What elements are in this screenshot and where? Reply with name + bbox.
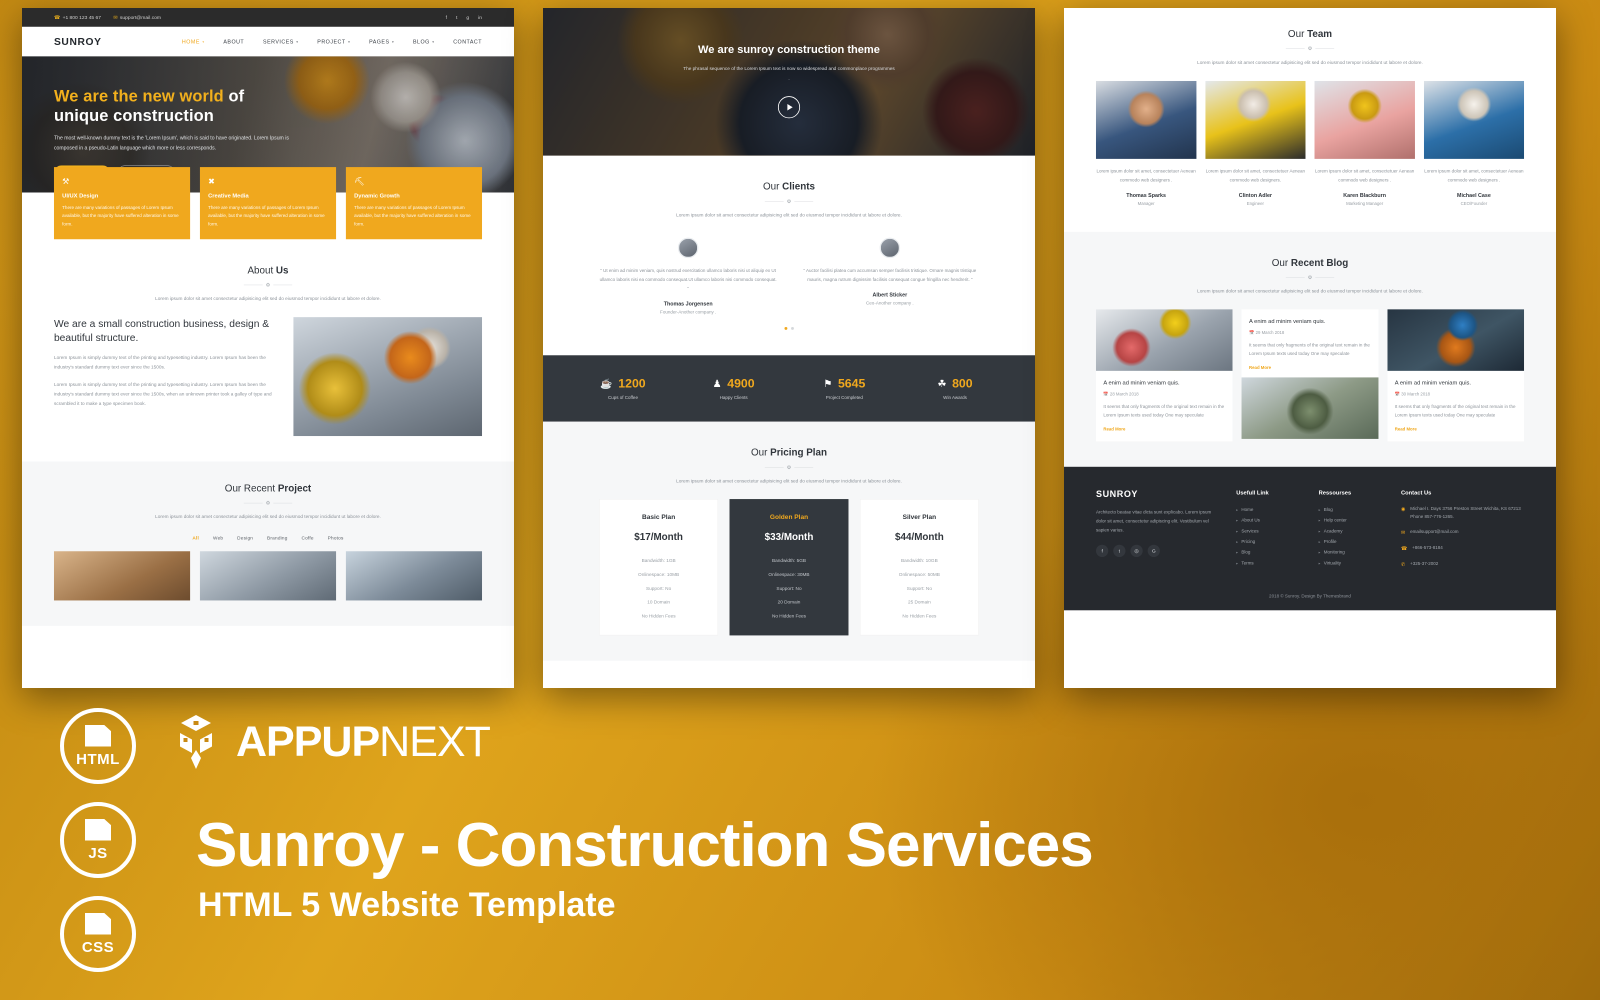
read-more-link[interactable]: Read More xyxy=(1103,426,1225,431)
feature-text: There are many variations of passages of… xyxy=(208,204,328,229)
topbar-phone: ☎+1 800 123 45 67 xyxy=(54,15,101,21)
blog-image xyxy=(1096,309,1233,371)
nav-item-home[interactable]: HOME▾ xyxy=(182,39,205,45)
nav-item-services[interactable]: SERVICES▾ xyxy=(263,39,298,45)
avatar xyxy=(678,238,699,258)
blog-image xyxy=(1387,309,1524,371)
blog-grid: A enim ad minim veniam quis. 📅 28 March … xyxy=(1096,309,1524,441)
about-title: We are a small construction business, de… xyxy=(54,317,272,345)
feature-title: UI/UX Design xyxy=(62,192,182,199)
gear-icon: ⚙ xyxy=(1308,46,1312,52)
carousel-dots[interactable] xyxy=(575,327,1003,330)
video-banner: We are sunroy construction theme The phr… xyxy=(543,8,1035,156)
team-role: Marketing Manager xyxy=(1315,202,1415,207)
feature-title: Creative Media xyxy=(208,192,328,199)
footer-link-help-center[interactable]: ▸Help center xyxy=(1319,515,1384,526)
team-bio: Lorem ipsum dolor sit amet, consectetuer… xyxy=(1205,167,1305,185)
topbar-email: ✉support@mail.com xyxy=(113,15,161,21)
nav-item-contact[interactable]: CONTACT xyxy=(453,39,482,45)
gear-icon: ⚙ xyxy=(787,465,791,471)
plan-feature: Onlinespace: 10MB xyxy=(607,568,710,582)
instagram-icon[interactable]: ◎ xyxy=(1130,545,1142,557)
tech-badges: HTML JS CSS xyxy=(60,708,136,972)
badge-css: CSS xyxy=(60,896,136,972)
blog-post[interactable]: A enim ad minim veniam quis. 📅 29 March … xyxy=(1242,309,1379,439)
bulb-icon: ⚑ xyxy=(823,378,832,390)
blog-image xyxy=(1242,377,1379,439)
plan-feature: No Hidden Fees xyxy=(737,609,840,623)
footer-link-home[interactable]: ▸Home xyxy=(1236,504,1301,515)
footer-link-blog[interactable]: ▸Blog xyxy=(1236,547,1301,558)
carousel-dot-1 xyxy=(784,327,787,330)
main-navbar: SUNROY HOME▾ ABOUT SERVICES▾ PROJECT▾ PA… xyxy=(22,27,514,57)
pricing-heading: Our Pricing Plan xyxy=(575,447,1003,458)
stat-happy-clients: ♟4900 Happy Clients xyxy=(678,377,789,401)
growth-icon: ⛏ xyxy=(354,176,474,186)
project-thumb[interactable] xyxy=(200,551,336,600)
calendar-icon: 📅 xyxy=(1249,330,1254,335)
chevron-down-icon: ▾ xyxy=(348,40,350,44)
team-name: Karen Blackburn xyxy=(1315,192,1415,198)
file-icon xyxy=(85,913,111,935)
pricing-plans: Basic Plan $17/Month Bandwidth: 1GB Onli… xyxy=(575,499,1003,635)
gear-icon: ⚙ xyxy=(787,198,791,204)
stat-win-awards: ☘800 Win Awards xyxy=(900,377,1011,401)
blog-subtext: Lorem ipsum dolor sit amet consectetur a… xyxy=(1096,287,1524,296)
footer-link-terms[interactable]: ▸Terms xyxy=(1236,558,1301,569)
clients-subtext: Lorem ipsum dolor sit amet consectetur a… xyxy=(575,211,1003,220)
pricing-subtext: Lorem ipsum dolor sit amet consectetur a… xyxy=(575,477,1003,486)
plan-title: Golden Plan xyxy=(737,513,840,520)
footer-link-blog2[interactable]: ▸Blog xyxy=(1319,504,1384,515)
filter-branding[interactable]: Branding xyxy=(267,536,288,541)
blog-post[interactable]: A enim ad minim veniam quis. 📅 30 March … xyxy=(1387,309,1524,441)
blog-post[interactable]: A enim ad minim veniam quis. 📅 28 March … xyxy=(1096,309,1233,441)
section-divider: ⚙ xyxy=(54,500,482,506)
appupnext-logo: APPUPNEXT xyxy=(170,714,490,770)
section-divider: ⚙ xyxy=(54,282,482,288)
blog-excerpt: It seems that only fragments of the orig… xyxy=(1395,402,1517,420)
about-heading: About Us xyxy=(54,265,482,276)
filter-photos[interactable]: Photos xyxy=(328,536,344,541)
footer-copyright: 2018 © Sunroy. Design By Themesbrand xyxy=(1096,594,1524,599)
project-thumb[interactable] xyxy=(54,551,190,600)
section-divider: ⚙ xyxy=(575,465,1003,471)
footer-contact: Contact Us ◉Michael I. Days 3756 Preston… xyxy=(1401,489,1524,576)
feature-text: There are many variations of passages of… xyxy=(62,204,182,229)
plan-title: Silver Plan xyxy=(868,513,971,520)
plan-price: $33/Month xyxy=(737,532,840,543)
footer-col-title: Usefull Link xyxy=(1236,489,1301,496)
promo-title: Sunroy - Construction Services xyxy=(196,810,1093,881)
stat-project-completed: ⚑5645 Project Completed xyxy=(789,377,900,401)
blog-heading: Our Recent Blog xyxy=(1096,257,1524,268)
stat-cups-of-coffee: ☕1200 Cups of Coffee xyxy=(568,377,679,401)
plan-price: $17/Month xyxy=(607,532,710,543)
location-icon: ◉ xyxy=(1401,504,1405,521)
chevron-down-icon: ▾ xyxy=(392,40,394,44)
hero-headline: We are the new world of unique construct… xyxy=(54,87,309,126)
team-member[interactable]: Lorem ipsum dolor sit amet, consectetuer… xyxy=(1205,81,1305,206)
team-role: Manager xyxy=(1096,202,1196,207)
contact-fax[interactable]: ✆+325-37-2002 xyxy=(1401,560,1524,569)
plan-basic[interactable]: Basic Plan $17/Month Bandwidth: 1GB Onli… xyxy=(599,499,718,635)
mail-icon: ✉ xyxy=(1401,528,1405,537)
clients-heading: Our Clients xyxy=(575,181,1003,192)
top-contact-bar: ☎+1 800 123 45 67 ✉support@mail.com f t … xyxy=(22,8,514,27)
team-photo xyxy=(1315,81,1415,159)
tools-icon: ✖ xyxy=(208,176,328,186)
plan-silver[interactable]: Silver Plan $44/Month Bandwidth: 10GB On… xyxy=(860,499,979,635)
phone-icon: ☎ xyxy=(54,15,60,21)
team-name: Thomas Sparks xyxy=(1096,192,1196,198)
plan-feature: Support: No xyxy=(737,582,840,596)
footer-link-virtuality[interactable]: ▸Virtuality xyxy=(1319,558,1384,569)
team-subtext: Lorem ipsum dolor sit amet consectetur a… xyxy=(1096,58,1524,67)
blog-title: A enim ad minim veniam quis. xyxy=(1103,379,1225,386)
contact-address: ◉Michael I. Days 3756 Preston Street Wic… xyxy=(1401,504,1524,521)
feature-text: There are many variations of passages of… xyxy=(354,204,474,229)
team-members: Lorem ipsum dolor sit amet, consectetuer… xyxy=(1096,81,1524,206)
team-bio: Lorem ipsum dolor sit amet, consectetuer… xyxy=(1424,167,1524,185)
team-name: Michael Case xyxy=(1424,192,1524,198)
promo-subtitle: HTML 5 Website Template xyxy=(198,886,616,925)
testimonial-quote: “ Ut enim ad minim veniam, quis nostrud … xyxy=(600,266,777,293)
calendar-icon: 📅 xyxy=(1103,392,1108,397)
screenshot-row: ☎+1 800 123 45 67 ✉support@mail.com f t … xyxy=(0,0,1600,700)
screenshot-homepage-top: ☎+1 800 123 45 67 ✉support@mail.com f t … xyxy=(22,8,514,688)
stat-label: Win Awards xyxy=(900,396,1011,401)
blog-excerpt: It seems that only fragments of the orig… xyxy=(1249,341,1371,359)
google-icon[interactable]: g xyxy=(466,15,469,21)
contact-email[interactable]: ✉emailsupport@mail.com xyxy=(1401,528,1524,537)
blog-date: 📅 30 March 2018 xyxy=(1395,391,1517,396)
feature-card-uiux[interactable]: ⚒ UI/UX Design There are many variations… xyxy=(54,167,190,239)
plan-feature: No Hidden Fees xyxy=(868,609,971,623)
testimonial-quote: “ Auctor facilisi platea cum accumsan se… xyxy=(801,266,978,284)
nav-item-about[interactable]: ABOUT xyxy=(223,39,244,45)
twitter-icon[interactable]: t xyxy=(1113,545,1125,557)
project-filters: All Web Design Branding Coffe Photos xyxy=(54,536,482,541)
blog-date: 📅 28 March 2018 xyxy=(1103,391,1225,396)
google-icon[interactable]: G xyxy=(1148,545,1160,557)
footer-useful-links: Usefull Link ▸Home ▸About Us ▸Services ▸… xyxy=(1236,489,1301,576)
about-paragraph-2: Lorem Ipsum is simply dummy text of the … xyxy=(54,380,272,408)
site-footer: SUNROY Architecto beatae vitae dicta sun… xyxy=(1064,467,1556,611)
mail-icon: ✉ xyxy=(113,15,117,21)
testimonial-name: Albert Sticker xyxy=(801,292,978,298)
footer-socials: f t ◎ G xyxy=(1096,545,1219,557)
carousel-dot-2 xyxy=(791,327,794,330)
about-photo xyxy=(293,317,482,436)
nav-item-pages[interactable]: PAGES▾ xyxy=(369,39,394,45)
team-member[interactable]: Lorem ipsum dolor sit amet, consectetuer… xyxy=(1315,81,1415,206)
coffee-icon: ☕ xyxy=(600,378,612,390)
team-role: CEO/Founder xyxy=(1424,202,1524,207)
footer-link-profile[interactable]: ▸Profile xyxy=(1319,536,1384,547)
plan-feature: 20 Domain xyxy=(737,595,840,609)
nav-item-project[interactable]: PROJECT▾ xyxy=(317,39,350,45)
testimonial-role: Founder-Another company . xyxy=(600,310,777,315)
section-divider: ⚙ xyxy=(1096,275,1524,281)
footer-link-services[interactable]: ▸Services xyxy=(1236,526,1301,537)
screenshot-homepage-bottom: Our Team ⚙ Lorem ipsum dolor sit amet co… xyxy=(1064,8,1556,688)
appupnext-wordmark: APPUPNEXT xyxy=(236,718,490,767)
feature-card-dynamic-growth[interactable]: ⛏ Dynamic Growth There are many variatio… xyxy=(346,167,482,239)
footer-link-about[interactable]: ▸About Us xyxy=(1236,515,1301,526)
blog-title: A enim ad minim veniam quis. xyxy=(1395,379,1517,386)
project-thumb[interactable] xyxy=(346,551,482,600)
person-icon: ♟ xyxy=(713,378,722,390)
about-section: About Us ⚙ Lorem ipsum dolor sit amet co… xyxy=(22,239,514,461)
plan-golden[interactable]: Golden Plan $33/Month Bandwidth: 5GB Onl… xyxy=(730,499,849,635)
avatar xyxy=(880,238,901,258)
testimonial-role: Ceo-Another company . xyxy=(801,301,978,306)
footer-col-title: Ressourses xyxy=(1319,489,1384,496)
promo-banner: HTML JS CSS APPUPNEXT Sunroy - xyxy=(0,690,1600,1000)
file-icon xyxy=(85,819,111,841)
pricing-section: Our Pricing Plan ⚙ Lorem ipsum dolor sit… xyxy=(543,422,1035,661)
video-subtitle: The phrasal sequence of the Lorem Ipsum … xyxy=(682,64,895,83)
plan-feature: No Hidden Fees xyxy=(607,609,710,623)
gear-icon: ⚙ xyxy=(266,282,270,288)
footer-logo[interactable]: SUNROY xyxy=(1096,489,1219,500)
team-heading: Our Team xyxy=(1096,29,1524,40)
team-member[interactable]: Lorem ipsum dolor sit amet, consectetuer… xyxy=(1096,81,1196,206)
stat-label: Project Completed xyxy=(789,396,900,401)
blog-title: A enim ad minim veniam quis. xyxy=(1249,317,1371,324)
team-photo xyxy=(1205,81,1305,159)
cube-logo-icon xyxy=(170,714,222,770)
team-bio: Lorem ipsum dolor sit amet, consectetuer… xyxy=(1315,167,1415,185)
blog-excerpt: It seems that only fragments of the orig… xyxy=(1103,402,1225,420)
chevron-down-icon: ▾ xyxy=(202,40,204,44)
filter-coffe[interactable]: Coffe xyxy=(301,536,313,541)
team-photo xyxy=(1096,81,1196,159)
plan-feature: 25 Domain xyxy=(868,595,971,609)
team-name: Clinton Adler xyxy=(1205,192,1305,198)
gear-icon: ⚙ xyxy=(266,500,270,506)
trophy-icon: ☘ xyxy=(938,378,947,390)
plan-feature: Bandwidth: 10GB xyxy=(868,554,971,568)
about-paragraph-1: Lorem Ipsum is simply dummy text of the … xyxy=(54,353,272,372)
project-grid xyxy=(54,551,482,600)
section-divider: ⚙ xyxy=(575,198,1003,204)
team-section: Our Team ⚙ Lorem ipsum dolor sit amet co… xyxy=(1064,8,1556,232)
nav-item-blog[interactable]: BLOG▾ xyxy=(413,39,434,45)
plan-feature: Support: No xyxy=(868,582,971,596)
team-member[interactable]: Lorem ipsum dolor sit amet, consectetuer… xyxy=(1424,81,1524,206)
site-logo[interactable]: SUNROY xyxy=(54,36,102,48)
badge-html: HTML xyxy=(60,708,136,784)
hero-paragraph: The most well-known dummy text is the 'L… xyxy=(54,134,309,153)
plan-feature: Onlinespace: 50MB xyxy=(868,568,971,582)
footer-link-monitoring[interactable]: ▸Monitoring xyxy=(1319,547,1384,558)
calendar-icon: 📅 xyxy=(1395,392,1400,397)
plan-feature: Support: No xyxy=(607,582,710,596)
footer-link-academy[interactable]: ▸Academy xyxy=(1319,526,1384,537)
plan-price: $44/Month xyxy=(868,532,971,543)
read-more-link[interactable]: Read More xyxy=(1249,365,1371,370)
twitter-icon[interactable]: t xyxy=(456,15,457,21)
feature-cards: ⚒ UI/UX Design There are many variations… xyxy=(22,167,514,239)
project-subtext: Lorem ipsum dolor sit amet consectetur a… xyxy=(54,512,482,521)
chevron-down-icon: ▾ xyxy=(296,40,298,44)
facebook-icon[interactable]: f xyxy=(1096,545,1108,557)
facebook-icon[interactable]: f xyxy=(446,15,447,21)
testimonial-list: “ Ut enim ad minim veniam, quis nostrud … xyxy=(575,238,1003,315)
testimonial-name: Thomas Jorgensen xyxy=(600,301,777,307)
plan-feature: Onlinespace: 30MB xyxy=(737,568,840,582)
team-photo xyxy=(1424,81,1524,159)
blog-section: Our Recent Blog ⚙ Lorem ipsum dolor sit … xyxy=(1064,232,1556,467)
plan-title: Basic Plan xyxy=(607,513,710,520)
filter-design[interactable]: Design xyxy=(237,536,253,541)
phone-icon: ☎ xyxy=(1401,544,1407,553)
file-icon xyxy=(85,725,111,747)
filter-all[interactable]: All xyxy=(192,536,199,541)
nav-menu: HOME▾ ABOUT SERVICES▾ PROJECT▾ PAGES▾ BL… xyxy=(182,39,482,45)
stat-label: Happy Clients xyxy=(678,396,789,401)
filter-web[interactable]: Web xyxy=(213,536,223,541)
badge-js: JS xyxy=(60,802,136,878)
footer-link-pricing[interactable]: ▸Pricing xyxy=(1236,536,1301,547)
blog-date: 📅 29 March 2018 xyxy=(1249,330,1371,335)
testimonial-item: “ Ut enim ad minim veniam, quis nostrud … xyxy=(600,238,777,315)
read-more-link[interactable]: Read More xyxy=(1395,426,1517,431)
about-subtext: Lorem ipsum dolor sit amet consectetur a… xyxy=(54,294,482,303)
footer-about: Architecto beatae vitae dicta sunt expli… xyxy=(1096,508,1219,535)
testimonial-item: “ Auctor facilisi platea cum accumsan se… xyxy=(801,238,978,315)
section-divider: ⚙ xyxy=(1096,46,1524,52)
footer-ressourses: Ressourses ▸Blog ▸Help center ▸Academy ▸… xyxy=(1319,489,1384,576)
stats-bar: ☕1200 Cups of Coffee ♟4900 Happy Clients… xyxy=(543,355,1035,421)
gear-icon: ⚙ xyxy=(1308,275,1312,281)
plan-feature: Bandwidth: 1GB xyxy=(607,554,710,568)
project-heading: Our Recent Project xyxy=(54,483,482,494)
mobile-icon: ✆ xyxy=(1401,560,1405,569)
video-title: We are sunroy construction theme xyxy=(543,43,1035,56)
chevron-down-icon: ▾ xyxy=(432,40,434,44)
contact-phone[interactable]: ☎+866-573-8184 xyxy=(1401,544,1524,553)
footer-col-title: Contact Us xyxy=(1401,489,1524,496)
team-bio: Lorem ipsum dolor sit amet, consectetuer… xyxy=(1096,167,1196,185)
stat-label: Cups of Coffee xyxy=(568,396,679,401)
team-role: Engineer xyxy=(1205,202,1305,207)
feature-title: Dynamic Growth xyxy=(354,192,474,199)
linkedin-icon[interactable]: in xyxy=(478,15,482,21)
project-section: Our Recent Project ⚙ Lorem ipsum dolor s… xyxy=(22,462,514,626)
clients-section: Our Clients ⚙ Lorem ipsum dolor sit amet… xyxy=(543,156,1035,356)
plan-feature: 10 Domain xyxy=(607,595,710,609)
screenshot-homepage-middle: We are sunroy construction theme The phr… xyxy=(543,8,1035,688)
play-icon[interactable] xyxy=(778,96,800,118)
plan-feature: Bandwidth: 5GB xyxy=(737,554,840,568)
design-icon: ⚒ xyxy=(62,176,182,186)
feature-card-creative-media[interactable]: ✖ Creative Media There are many variatio… xyxy=(200,167,336,239)
